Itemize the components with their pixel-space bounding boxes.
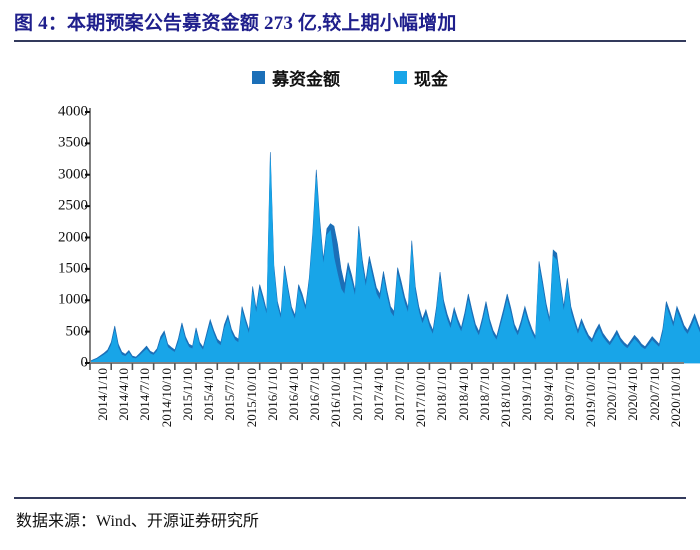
legend-swatch-icon xyxy=(252,71,265,84)
x-axis-tick-label: 2018/10/10 xyxy=(498,368,514,427)
x-axis-tick-label: 2014/10/10 xyxy=(159,368,175,427)
x-axis-tick-label: 2020/7/10 xyxy=(647,368,663,421)
x-axis-tick-label: 2017/4/10 xyxy=(371,368,387,421)
legend-item-1: 现金 xyxy=(394,65,448,90)
x-axis-tick-label: 2019/7/10 xyxy=(562,368,578,421)
x-axis-labels: 2014/1/102014/4/102014/7/102014/10/10201… xyxy=(0,368,700,478)
x-axis-tick-label: 2020/10/10 xyxy=(668,368,684,427)
chart-legend: 募资金额 现金 xyxy=(0,64,700,90)
footer-divider xyxy=(14,497,686,499)
series-area-1 xyxy=(90,160,700,363)
x-axis-tick-label: 2016/7/10 xyxy=(307,368,323,421)
chart-plot-area: 05001000150020002500300035004000 xyxy=(0,96,700,386)
title-divider xyxy=(14,40,686,42)
x-axis-tick-label: 2020/1/10 xyxy=(604,368,620,421)
x-axis-tick-label: 2018/1/10 xyxy=(434,368,450,421)
x-axis-tick-label: 2020/4/10 xyxy=(625,368,641,421)
x-axis-tick-label: 2019/1/10 xyxy=(519,368,535,421)
x-axis-tick-label: 2019/4/10 xyxy=(541,368,557,421)
legend-label: 募资金额 xyxy=(272,65,340,90)
x-axis-tick-label: 2018/4/10 xyxy=(456,368,472,421)
x-axis-tick-label: 2015/7/10 xyxy=(222,368,238,421)
x-axis-tick-label: 2014/1/10 xyxy=(95,368,111,421)
legend-item-0: 募资金额 xyxy=(252,65,340,90)
x-axis-tick-label: 2014/7/10 xyxy=(137,368,153,421)
x-axis-tick-label: 2015/4/10 xyxy=(201,368,217,421)
x-axis-tick-label: 2017/7/10 xyxy=(392,368,408,421)
figure-page: 图 4：本期预案公告募资金额 273 亿,较上期小幅增加 募资金额 现金 050… xyxy=(0,0,700,550)
figure-title-row: 图 4：本期预案公告募资金额 273 亿,较上期小幅增加 xyxy=(14,6,686,36)
x-axis-tick-label: 2014/4/10 xyxy=(116,368,132,421)
legend-label: 现金 xyxy=(414,65,448,90)
x-axis-tick-label: 2016/10/10 xyxy=(328,368,344,427)
x-axis-tick-label: 2018/7/10 xyxy=(477,368,493,421)
x-axis-tick-label: 2016/1/10 xyxy=(265,368,281,421)
source-note: 数据来源：Wind、开源证券研究所 xyxy=(16,507,259,531)
area-chart-svg xyxy=(0,96,700,386)
x-axis-tick-label: 2017/1/10 xyxy=(350,368,366,421)
x-axis-tick-label: 2016/4/10 xyxy=(286,368,302,421)
page-title: 图 4：本期预案公告募资金额 273 亿,较上期小幅增加 xyxy=(14,8,457,35)
x-axis-tick-label: 2015/1/10 xyxy=(180,368,196,421)
legend-swatch-icon xyxy=(394,71,407,84)
x-axis-tick-label: 2015/10/10 xyxy=(244,368,260,427)
x-axis-tick-label: 2019/10/10 xyxy=(583,368,599,427)
x-axis-tick-label: 2017/10/10 xyxy=(413,368,429,427)
